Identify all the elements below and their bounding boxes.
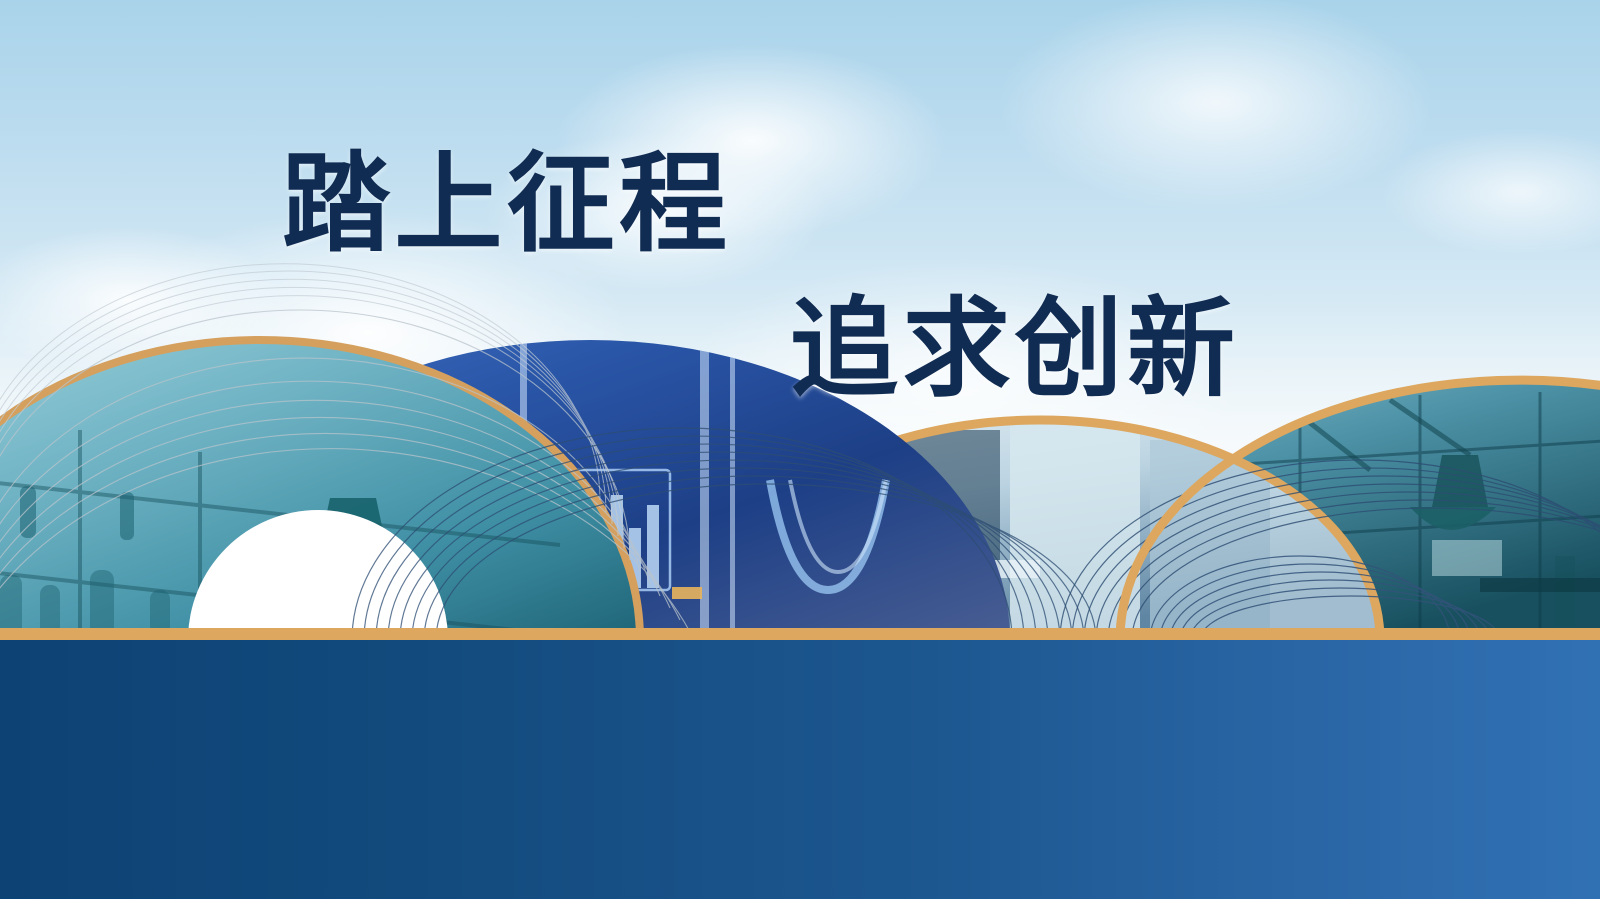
cover-slide: 踏上征程 追求创新 浙江启程新材料科技有限公司 ZHEJIANG QICHENG… xyxy=(0,0,1600,899)
headline-primary: 踏上征程 xyxy=(282,150,731,258)
gold-divider-bar xyxy=(0,628,1600,640)
headline-secondary: 追求创新 xyxy=(790,295,1239,403)
footer-band: 浙江启程新材料科技有限公司 ZHEJIANG QICHENG NEW MATER… xyxy=(0,640,1600,899)
